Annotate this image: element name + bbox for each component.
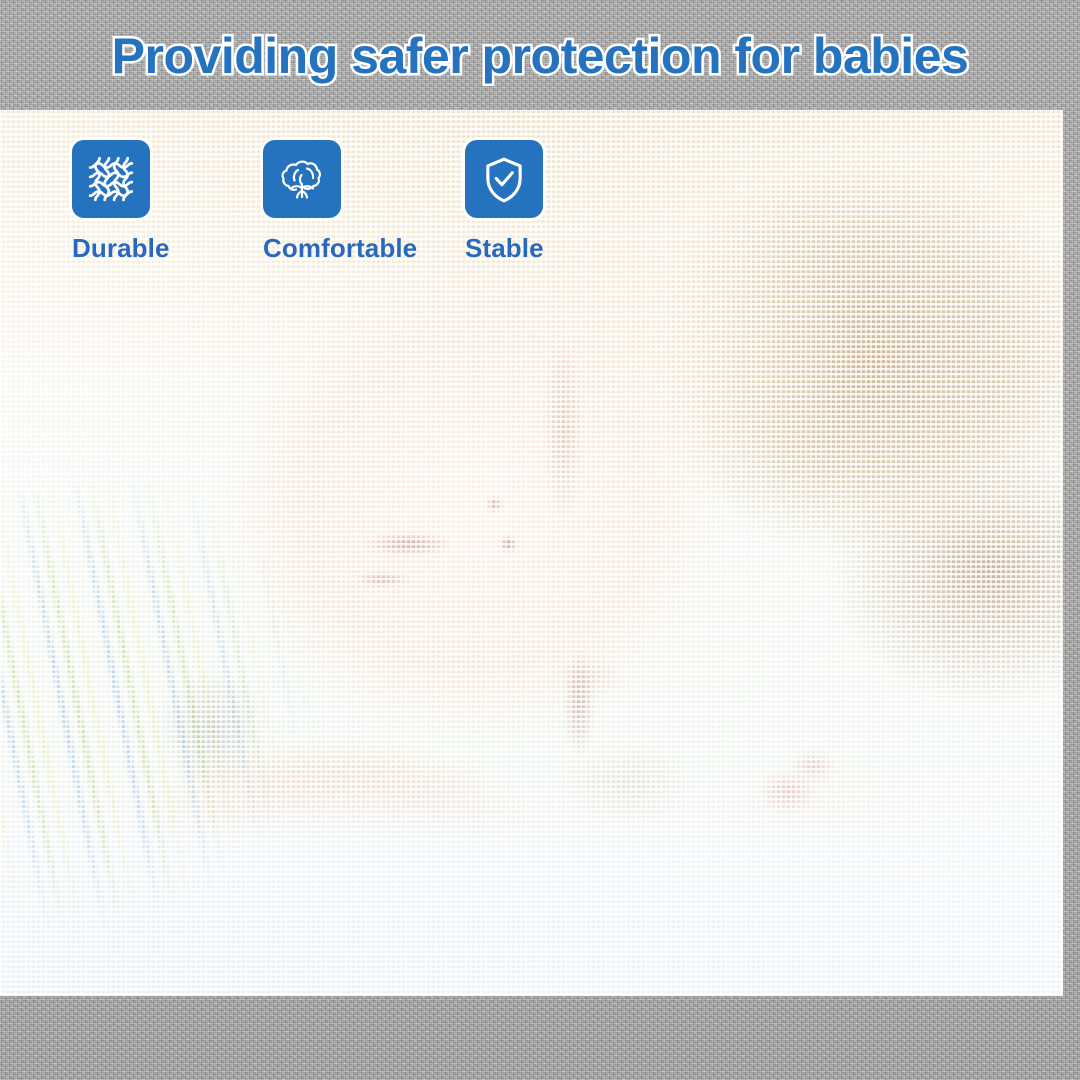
comfortable-icon-tile xyxy=(263,140,341,218)
page-title: Providing safer protection for babies xyxy=(112,30,969,83)
feature-label-stable: Stable xyxy=(465,233,544,264)
headline-container: Providing safer protection for babies xyxy=(0,30,1080,83)
shield-check-icon xyxy=(479,154,529,204)
feature-list: Durable xyxy=(72,140,544,264)
feature-item-stable: Stable xyxy=(465,140,544,264)
feature-item-durable: Durable xyxy=(72,140,263,264)
stable-icon-tile xyxy=(465,140,543,218)
product-feature-poster: Providing safer protection for babies xyxy=(0,0,1080,1080)
feature-item-comfortable: Comfortable xyxy=(263,140,465,264)
woven-mesh-icon xyxy=(86,154,136,204)
cotton-boll-icon xyxy=(276,153,328,205)
feature-label-durable: Durable xyxy=(72,233,170,264)
durable-icon-tile xyxy=(72,140,150,218)
feature-label-comfortable: Comfortable xyxy=(263,233,417,264)
